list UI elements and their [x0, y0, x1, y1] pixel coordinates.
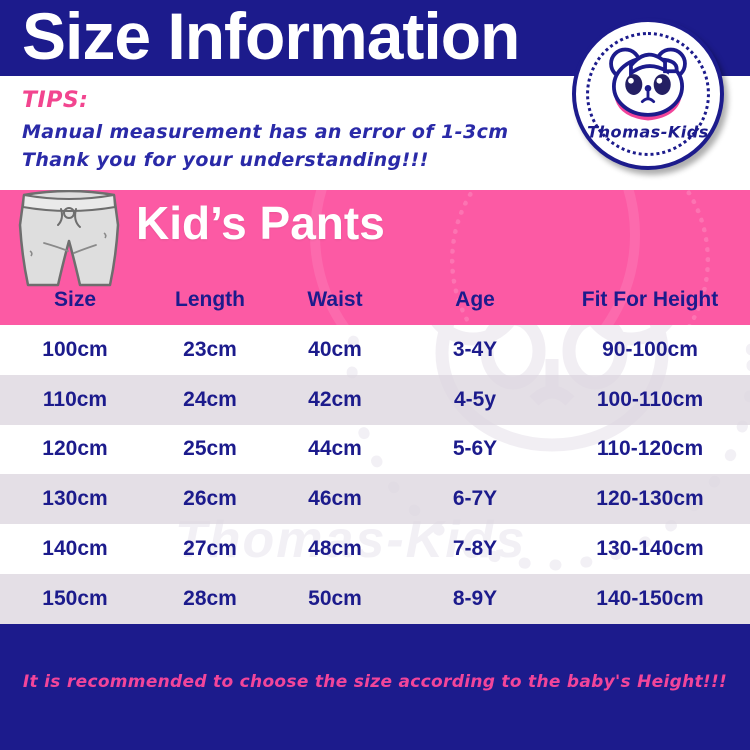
cell-height: 140-150cm: [550, 587, 750, 611]
footer-band: It is recommended to choose the size acc…: [0, 624, 750, 750]
cell-waist: 42cm: [270, 388, 400, 412]
cell-height: 100-110cm: [550, 388, 750, 412]
svg-text:Thomas-Kids: Thomas-Kids: [587, 123, 709, 142]
cell-age: 7-8Y: [400, 537, 550, 561]
cell-length: 23cm: [150, 338, 270, 362]
cell-size: 140cm: [0, 537, 150, 561]
table-row: 120cm 25cm 44cm 5-6Y 110-120cm: [0, 425, 750, 475]
cell-waist: 44cm: [270, 437, 400, 461]
footer-note: It is recommended to choose the size acc…: [0, 672, 750, 692]
column-header-fit-for-height: Fit For Height: [550, 288, 750, 312]
cell-length: 26cm: [150, 487, 270, 511]
brand-logo: Thomas-Kids: [572, 18, 724, 170]
column-header-length: Length: [150, 288, 270, 312]
tips-line-1: Manual measurement has an error of 1-3cm: [22, 121, 508, 143]
cell-age: 8-9Y: [400, 587, 550, 611]
cell-length: 24cm: [150, 388, 270, 412]
size-table-body: Thomas-Kids 100cm 23cm 40cm 3-4Y 90-100c…: [0, 325, 750, 624]
cell-height: 130-140cm: [550, 537, 750, 561]
cell-length: 27cm: [150, 537, 270, 561]
size-chart-page: Size Information Thomas-Kids: [0, 0, 750, 750]
cell-size: 130cm: [0, 487, 150, 511]
cell-waist: 50cm: [270, 587, 400, 611]
table-row: 130cm 26cm 46cm 6-7Y 120-130cm: [0, 474, 750, 524]
table-header-row: Size Length Waist Age Fit For Height: [0, 275, 750, 325]
cell-size: 150cm: [0, 587, 150, 611]
column-header-age: Age: [400, 288, 550, 312]
tips-line-2: Thank you for your understanding!!!: [22, 149, 429, 171]
table-row: 150cm 28cm 50cm 8-9Y 140-150cm: [0, 574, 750, 624]
cell-length: 28cm: [150, 587, 270, 611]
cell-waist: 48cm: [270, 537, 400, 561]
cell-waist: 40cm: [270, 338, 400, 362]
cell-height: 110-120cm: [550, 437, 750, 461]
table-row: 110cm 24cm 42cm 4-5y 100-110cm: [0, 375, 750, 425]
garment-title: Kid’s Pants: [136, 196, 385, 250]
cell-waist: 46cm: [270, 487, 400, 511]
cell-size: 100cm: [0, 338, 150, 362]
cell-age: 6-7Y: [400, 487, 550, 511]
cell-height: 120-130cm: [550, 487, 750, 511]
tips-label: TIPS:: [22, 88, 88, 113]
cell-age: 3-4Y: [400, 338, 550, 362]
cell-size: 120cm: [0, 437, 150, 461]
page-title: Size Information: [22, 0, 519, 76]
cell-length: 25cm: [150, 437, 270, 461]
table-row: 140cm 27cm 48cm 7-8Y 130-140cm: [0, 524, 750, 574]
cell-size: 110cm: [0, 388, 150, 412]
table-row: 100cm 23cm 40cm 3-4Y 90-100cm: [0, 325, 750, 375]
cell-age: 4-5y: [400, 388, 550, 412]
column-header-size: Size: [0, 288, 150, 312]
cell-age: 5-6Y: [400, 437, 550, 461]
column-header-waist: Waist: [270, 288, 400, 312]
cell-height: 90-100cm: [550, 338, 750, 362]
bear-mascot-icon: Thomas-Kids: [576, 22, 720, 166]
